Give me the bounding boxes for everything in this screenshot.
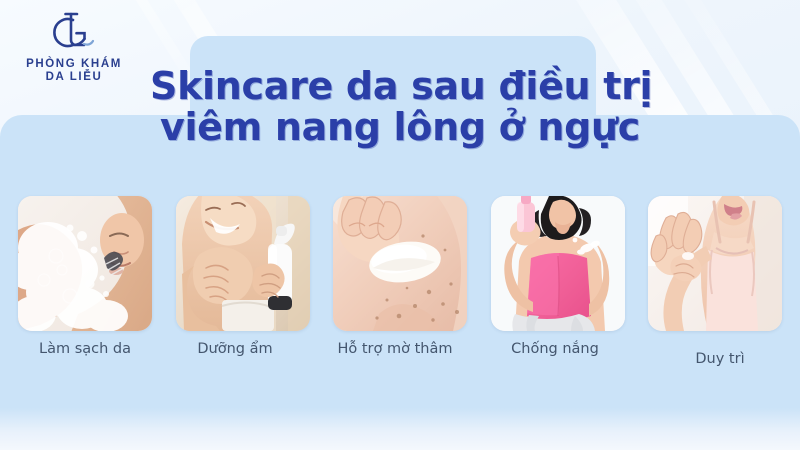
page-title: Skincare da sau điều trị viêm nang lông …: [150, 66, 650, 147]
step-card: [333, 196, 467, 331]
logo-text-line2: DA LIỄU: [14, 71, 134, 84]
stage-bottom-fade: [0, 408, 800, 450]
step-caption: Duy trì: [640, 351, 800, 367]
step-card-row: [18, 196, 782, 331]
step-caption: Chống nắng: [475, 341, 635, 357]
step-caption: Làm sạch da: [5, 341, 165, 357]
logo-text-line1: PHÒNG KHÁM: [14, 58, 134, 71]
maintenance-photo: [648, 196, 782, 331]
title-line-1: Skincare da sau điều trị: [150, 66, 650, 107]
step-card: [18, 196, 152, 331]
sunscreen-photo: [491, 196, 625, 331]
step-card: [491, 196, 625, 331]
step-caption: Dưỡng ẩm: [155, 341, 315, 357]
shower-cleansing-photo: [18, 196, 152, 331]
step-card: [176, 196, 310, 331]
moisturizer-bottle-photo: [176, 196, 310, 331]
lg-monogram-icon: [43, 8, 105, 56]
step-card: [648, 196, 782, 331]
step-caption: Hỗ trợ mờ thâm: [305, 341, 485, 357]
title-line-2: viêm nang lông ở ngực: [150, 107, 650, 148]
caption-row: Làm sạch da Dưỡng ẩm Hỗ trợ mờ thâm Chốn…: [0, 341, 800, 367]
infographic-poster: PHÒNG KHÁM DA LIỄU Skincare da sau điều …: [0, 0, 800, 450]
cream-on-skin-photo: [333, 196, 467, 331]
clinic-logo: PHÒNG KHÁM DA LIỄU: [14, 8, 134, 84]
